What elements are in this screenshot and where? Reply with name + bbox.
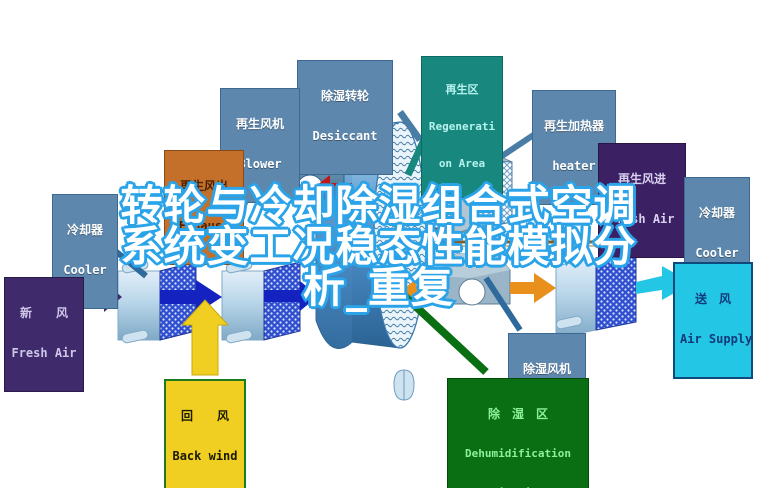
label-fresh-air-inlet-cn: 新 风 bbox=[10, 307, 78, 320]
label-back-wind-cn: 回 风 bbox=[171, 410, 239, 423]
label-fresh-air-inlet-en: Fresh Air bbox=[10, 347, 78, 360]
label-air-supply-cn: 送 风 bbox=[680, 293, 746, 306]
label-regeneration-area: 再生区 Regenerati on Area bbox=[421, 56, 503, 198]
label-desiccant-wheel-en: Desiccant bbox=[303, 130, 387, 143]
label-regeneration-area-en1: Regenerati bbox=[427, 121, 497, 133]
label-back-wind: 回 风 Back wind bbox=[164, 379, 246, 488]
label-regeneration-air-inlet-en: Fresh Air bbox=[604, 213, 680, 226]
label-regeneration-air-exhaust-cn: 再生风出 bbox=[170, 180, 238, 193]
label-regeneration-area-en2: on Area bbox=[427, 158, 497, 170]
label-desiccant-wheel: 除湿转轮 Desiccant bbox=[297, 60, 393, 175]
label-desiccant-wheel-cn: 除湿转轮 bbox=[303, 90, 387, 103]
label-cooler-right-en: Cooler bbox=[690, 247, 744, 260]
label-fresh-air-inlet: 新 风 Fresh Air bbox=[4, 277, 84, 392]
label-regeneration-air-inlet-cn: 再生风进 bbox=[604, 173, 680, 186]
label-cooler-right-cn: 冷却器 bbox=[690, 207, 744, 220]
label-cooler-left-en: Cooler bbox=[58, 264, 112, 277]
label-air-supply-en: Air Supply bbox=[680, 333, 746, 346]
cooling-coil-3 bbox=[555, 250, 636, 338]
label-regeneration-air-exhaust-en: Exhaust bbox=[170, 220, 238, 233]
label-regeneration-air-inlet: 再生风进 Fresh Air bbox=[598, 143, 686, 258]
dehum-outlet-arrow bbox=[510, 273, 556, 303]
label-dehumidification-blower-cn: 除湿风机 bbox=[514, 363, 580, 376]
label-regeneration-area-cn: 再生区 bbox=[427, 84, 497, 96]
label-dehumidification-district-en1: Dehumidification bbox=[453, 448, 583, 460]
heater-element bbox=[424, 228, 612, 248]
label-dehumidification-district-cn: 除 湿 区 bbox=[453, 408, 583, 421]
rotor-drain-cup bbox=[394, 370, 414, 400]
label-dehumidification-district: 除 湿 区 Dehumidification District bbox=[447, 378, 589, 488]
label-regeneration-blower-cn: 再生风机 bbox=[226, 118, 294, 131]
diagram-canvas: 除湿转轮 Desiccant 再生风机 Blower 再生区 Regenerat… bbox=[0, 0, 757, 488]
label-regeneration-air-exhaust: 再生风出 Exhaust bbox=[164, 150, 244, 265]
label-cooler-left-cn: 冷却器 bbox=[58, 224, 112, 237]
label-back-wind-en: Back wind bbox=[171, 450, 239, 463]
label-air-supply: 送 风 Air Supply bbox=[673, 262, 753, 379]
label-regeneration-heater-cn: 再生加热器 bbox=[538, 120, 610, 133]
